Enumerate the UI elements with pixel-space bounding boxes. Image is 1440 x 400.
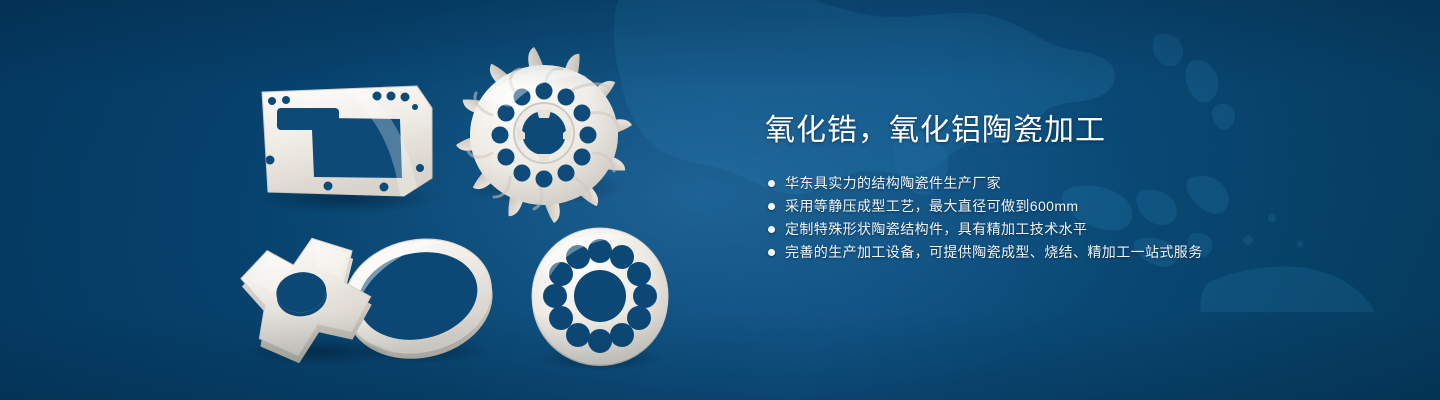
- bullet-dot-icon: [768, 249, 775, 256]
- bullet-dot-icon: [768, 203, 775, 210]
- feature-text: 采用等静压成型工艺，最大直径可做到600mm: [785, 196, 1078, 216]
- bullet-dot-icon: [768, 226, 775, 233]
- feature-list-item: 完善的生产加工设备，可提供陶瓷成型、烧结、精加工一站式服务: [768, 241, 1385, 263]
- banner-copy: 氧化锆，氧化铝陶瓷加工 华东具实力的结构陶瓷件生产厂家 采用等静压成型工艺，最大…: [765, 112, 1385, 264]
- feature-text: 华东具实力的结构陶瓷件生产厂家: [785, 173, 1001, 193]
- banner-headline: 氧化锆，氧化铝陶瓷加工: [765, 112, 1385, 150]
- feature-text: 完善的生产加工设备，可提供陶瓷成型、烧结、精加工一站式服务: [785, 242, 1203, 262]
- feature-list-item: 采用等静压成型工艺，最大直径可做到600mm: [768, 195, 1385, 217]
- bullet-dot-icon: [768, 180, 775, 187]
- hero-banner: 氧化锆，氧化铝陶瓷加工 华东具实力的结构陶瓷件生产厂家 采用等静压成型工艺，最大…: [0, 0, 1440, 400]
- feature-text: 定制特殊形状陶瓷结构件，具有精加工技术水平: [785, 219, 1087, 239]
- feature-list: 华东具实力的结构陶瓷件生产厂家 采用等静压成型工艺，最大直径可做到600mm 定…: [768, 172, 1385, 263]
- feature-list-item: 华东具实力的结构陶瓷件生产厂家: [768, 172, 1385, 194]
- feature-list-item: 定制特殊形状陶瓷结构件，具有精加工技术水平: [768, 218, 1385, 240]
